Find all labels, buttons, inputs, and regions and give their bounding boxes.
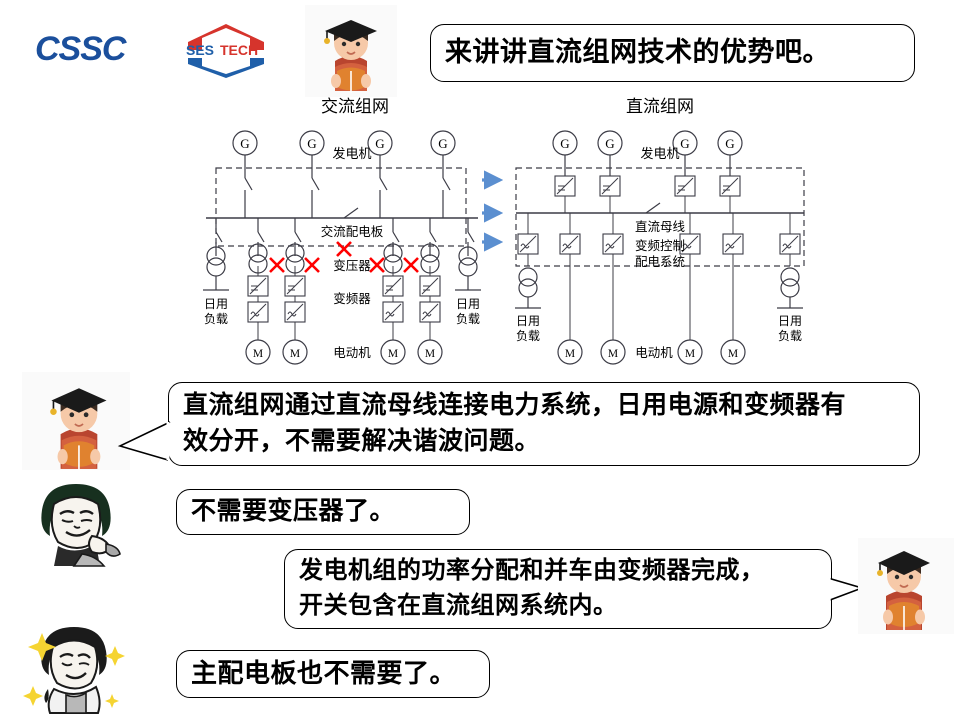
bubble-power-sharing-line-1: 发电机组的功率分配和并车由变频器完成， xyxy=(299,554,765,589)
ac-title: 交流组网 xyxy=(321,97,389,116)
cssc-logo: CSSC xyxy=(35,28,165,70)
ac-daily-load-right-line1: 日用 xyxy=(456,297,480,311)
ac-motor-label: 电动机 xyxy=(333,346,371,360)
dc-title: 直流组网 xyxy=(626,97,694,116)
dc-motor-symbol-1: M xyxy=(565,348,575,360)
bubble-dc-bus-line-1: 直流组网通过直流母线连接电力系统，日用电源和变频器有 xyxy=(183,388,846,424)
bubble-intro: 来讲讲直流组网技术的优势吧。 xyxy=(430,24,915,82)
dc-vfd-control-label: 变频控制 xyxy=(635,238,685,253)
dc-generator-label: 发电机 xyxy=(640,146,679,161)
sestech-text-tech: TECH xyxy=(220,42,258,58)
ac-bus-tie-breaker xyxy=(344,208,358,218)
bubble-power-sharing-line-2: 开关包含在直流组网系统内。 xyxy=(299,589,765,624)
dc-daily-load-transformer-right xyxy=(777,268,803,308)
dc-motor-symbol-2: M xyxy=(608,348,618,360)
ac-motor-symbol-3: M xyxy=(388,348,398,360)
bubble-dc-bus-explanation: 直流组网通过直流母线连接电力系统，日用电源和变频器有 效分开，不需要解决谐波问题… xyxy=(168,382,920,466)
dc-daily-load-right-line1: 日用 xyxy=(778,314,802,328)
dc-motor-symbol-3: M xyxy=(685,348,695,360)
red-x-mark-1 xyxy=(337,242,351,256)
ac-motor-symbol-4: M xyxy=(425,348,435,360)
ac-daily-load-right-line2: 负载 xyxy=(456,312,480,326)
dc-motor-label: 电动机 xyxy=(635,346,673,360)
ac-generator-symbol-1: G xyxy=(240,136,249,151)
dc-daily-load-left-line2: 负载 xyxy=(516,329,540,343)
dc-motor-symbol-4: M xyxy=(728,348,738,360)
ac-generator-label: 发电机 xyxy=(332,146,371,161)
bubble-no-main-switchboard-text: 主配电板也不需要了。 xyxy=(177,655,470,693)
dc-daily-load-right-line2: 负载 xyxy=(778,329,802,343)
ac-generator-symbol-4: G xyxy=(438,136,447,151)
avatar-graduate-right xyxy=(858,538,954,634)
avatar-graduate-left xyxy=(22,372,130,470)
dc-generator-symbol-4: G xyxy=(725,136,734,151)
bubble-dc-bus-line-2: 效分开，不需要解决谐波问题。 xyxy=(183,424,846,460)
dc-daily-load-left-line1: 日用 xyxy=(516,314,540,328)
bubble-dc-bus-tail xyxy=(118,420,174,464)
bubble-no-transformer: 不需要变压器了。 xyxy=(176,489,470,535)
sestech-text-ses: SES xyxy=(186,42,214,58)
dc-bus-tie-breaker xyxy=(646,203,660,213)
red-x-mark-2 xyxy=(270,258,284,272)
ac-motor-symbol-2: M xyxy=(290,348,300,360)
dc-bus-label: 直流母线 xyxy=(635,220,686,234)
bubble-power-sharing: 发电机组的功率分配和并车由变频器完成， 开关包含在直流组网系统内。 xyxy=(284,549,832,629)
sestech-logo: SES TECH xyxy=(180,22,272,78)
ac-switchboard-label: 交流配电板 xyxy=(321,224,384,239)
dc-generator-symbol-1: G xyxy=(560,136,569,151)
red-x-mark-5 xyxy=(404,258,418,272)
avatar-smug-meme xyxy=(24,474,128,570)
red-x-mark-4 xyxy=(370,258,384,272)
cssc-logo-text: CSSC xyxy=(35,30,127,68)
bubble-no-transformer-text: 不需要变压器了。 xyxy=(177,494,409,530)
avatar-sparkle-meme xyxy=(18,615,130,715)
avatar-graduate-top xyxy=(305,5,397,97)
ac-vfd-label: 变频器 xyxy=(333,291,371,306)
ac-transformer-label: 变压器 xyxy=(333,258,371,273)
dc-distribution-label: 配电系统 xyxy=(635,255,685,269)
power-system-diagram: 交流组网 G G G G 发电机 交流配电板 xyxy=(0,90,960,380)
ac-daily-load-left-line2: 负载 xyxy=(204,312,228,326)
red-x-mark-3 xyxy=(305,258,319,272)
ac-motor-symbol-1: M xyxy=(253,348,263,360)
dc-generator-symbol-2: G xyxy=(605,136,614,151)
ac-generator-symbol-2: G xyxy=(307,136,316,151)
ac-generator-symbol-3: G xyxy=(375,136,384,151)
bubble-no-main-switchboard: 主配电板也不需要了。 xyxy=(176,650,490,698)
ac-daily-load-left-line1: 日用 xyxy=(204,297,228,311)
dc-generator-symbol-3: G xyxy=(680,136,689,151)
sestech-lower-chevron xyxy=(188,58,264,78)
bubble-intro-text: 来讲讲直流组网技术的优势吧。 xyxy=(431,33,844,72)
dc-daily-load-transformer-left xyxy=(515,268,541,308)
